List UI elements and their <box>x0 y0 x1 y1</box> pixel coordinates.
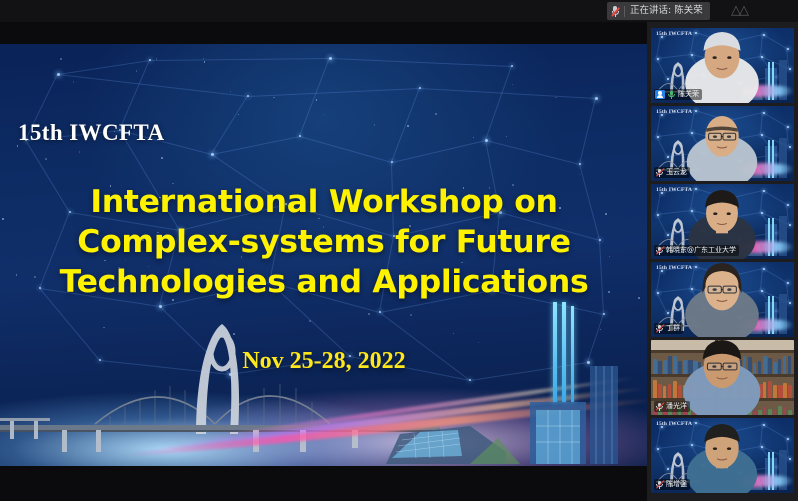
network-node <box>511 65 513 67</box>
participant-name-bar: 丁群 <box>654 323 683 334</box>
active-speaker-label: 正在讲话: 陈关荣 <box>630 2 703 20</box>
star <box>512 84 514 86</box>
slide-kicker: 15th IWCFTA <box>18 120 164 146</box>
zoom-meeting-window: 正在讲话: 陈关荣 △△ 15th IWCFTA International W… <box>0 0 798 501</box>
participant-tile[interactable]: 潘光洋 <box>651 340 794 415</box>
star <box>324 114 326 116</box>
star <box>79 151 81 153</box>
participant-name-bar: 潘光洋 <box>654 401 690 412</box>
network-node <box>247 95 249 97</box>
star <box>16 274 18 276</box>
network-edge <box>420 88 596 99</box>
participant-name: 陈关荣 <box>678 89 699 100</box>
mic-on-icon[interactable] <box>667 90 676 99</box>
participant-name-bar: 陈关荣 <box>654 89 702 100</box>
participant-tile[interactable]: 15th IWCFTA韩晓东@广东工业大学 <box>651 184 794 259</box>
star <box>45 158 47 160</box>
network-node <box>391 161 393 163</box>
mic-muted-icon[interactable] <box>655 480 664 489</box>
canton-tower <box>562 302 566 402</box>
mic-muted-icon[interactable] <box>655 324 664 333</box>
star <box>230 91 232 93</box>
participant-name: 陈增强 <box>666 479 687 490</box>
participant-name-bar: 陈增强 <box>654 479 690 490</box>
city-artwork <box>0 306 647 466</box>
chevron-up-icon[interactable]: △△ <box>731 4 747 18</box>
mic-muted-icon[interactable] <box>655 246 664 255</box>
participant-name: 丁群 <box>666 323 680 334</box>
star <box>136 70 138 72</box>
participant-strip[interactable]: 15th IWCFTA陈关荣15th IWCFTA王云龙15th IWCFTA韩… <box>647 22 798 501</box>
participant-name-bar: 韩晓东@广东工业大学 <box>654 245 739 256</box>
mic-muted-icon[interactable] <box>655 168 664 177</box>
star <box>60 58 62 60</box>
network-edge <box>58 74 248 97</box>
skyline-graphic <box>0 306 647 466</box>
slide-title: International Workshop on Complex-system… <box>20 182 628 302</box>
star <box>238 114 240 116</box>
network-edge <box>486 140 580 165</box>
network-node <box>595 97 598 100</box>
star <box>273 97 275 99</box>
star <box>73 81 75 83</box>
participant-tile[interactable]: 15th IWCFTA王云龙 <box>651 106 794 181</box>
canton-tower <box>571 306 574 402</box>
mic-muted-icon[interactable] <box>655 402 664 411</box>
network-edge <box>211 95 248 154</box>
network-edge <box>299 58 330 136</box>
network-edge <box>212 136 300 155</box>
star <box>2 218 4 220</box>
network-edge <box>58 60 150 75</box>
participant-name: 潘光洋 <box>666 401 687 412</box>
network-node <box>329 57 332 60</box>
star <box>374 124 376 126</box>
star <box>316 99 318 101</box>
participant-name-bar: 王云龙 <box>654 167 690 178</box>
network-edge <box>300 136 392 163</box>
star <box>204 61 206 63</box>
star <box>407 125 409 127</box>
user-icon <box>655 90 665 99</box>
participant-tile[interactable]: 15th IWCFTA丁群 <box>651 262 794 337</box>
presentation-slide: 15th IWCFTA International Workshop on Co… <box>0 44 647 466</box>
canton-tower <box>553 302 557 402</box>
active-speaker-chip[interactable]: 正在讲话: 陈关荣 <box>607 2 710 20</box>
star <box>435 113 437 115</box>
network-edge <box>248 88 420 97</box>
star <box>555 97 557 99</box>
network-edge <box>391 88 420 162</box>
star <box>473 137 475 139</box>
participant-tile[interactable]: 15th IWCFTA陈增强 <box>651 418 794 493</box>
network-edge <box>330 58 512 67</box>
network-node <box>149 59 151 61</box>
network-edge <box>579 98 596 164</box>
network-edge <box>392 140 486 163</box>
star <box>161 157 163 159</box>
star <box>506 136 508 138</box>
network-node <box>419 87 421 89</box>
star <box>579 174 581 176</box>
star <box>638 297 640 299</box>
shared-screen-region[interactable]: 15th IWCFTA International Workshop on Co… <box>0 22 647 501</box>
network-node <box>211 153 214 156</box>
network-node <box>299 135 301 137</box>
participant-name: 王云龙 <box>666 167 687 178</box>
mic-muted-icon <box>611 5 619 17</box>
network-edge <box>150 58 330 61</box>
meeting-top-bar: 正在讲话: 陈关荣 △△ <box>0 0 798 22</box>
network-node <box>485 139 488 142</box>
divider <box>624 6 625 17</box>
star <box>156 58 158 60</box>
network-node <box>57 73 60 76</box>
participant-name: 韩晓东@广东工业大学 <box>666 245 736 256</box>
network-node <box>579 163 581 165</box>
participant-tile[interactable]: 15th IWCFTA陈关荣 <box>651 28 794 103</box>
network-edge <box>485 66 512 140</box>
